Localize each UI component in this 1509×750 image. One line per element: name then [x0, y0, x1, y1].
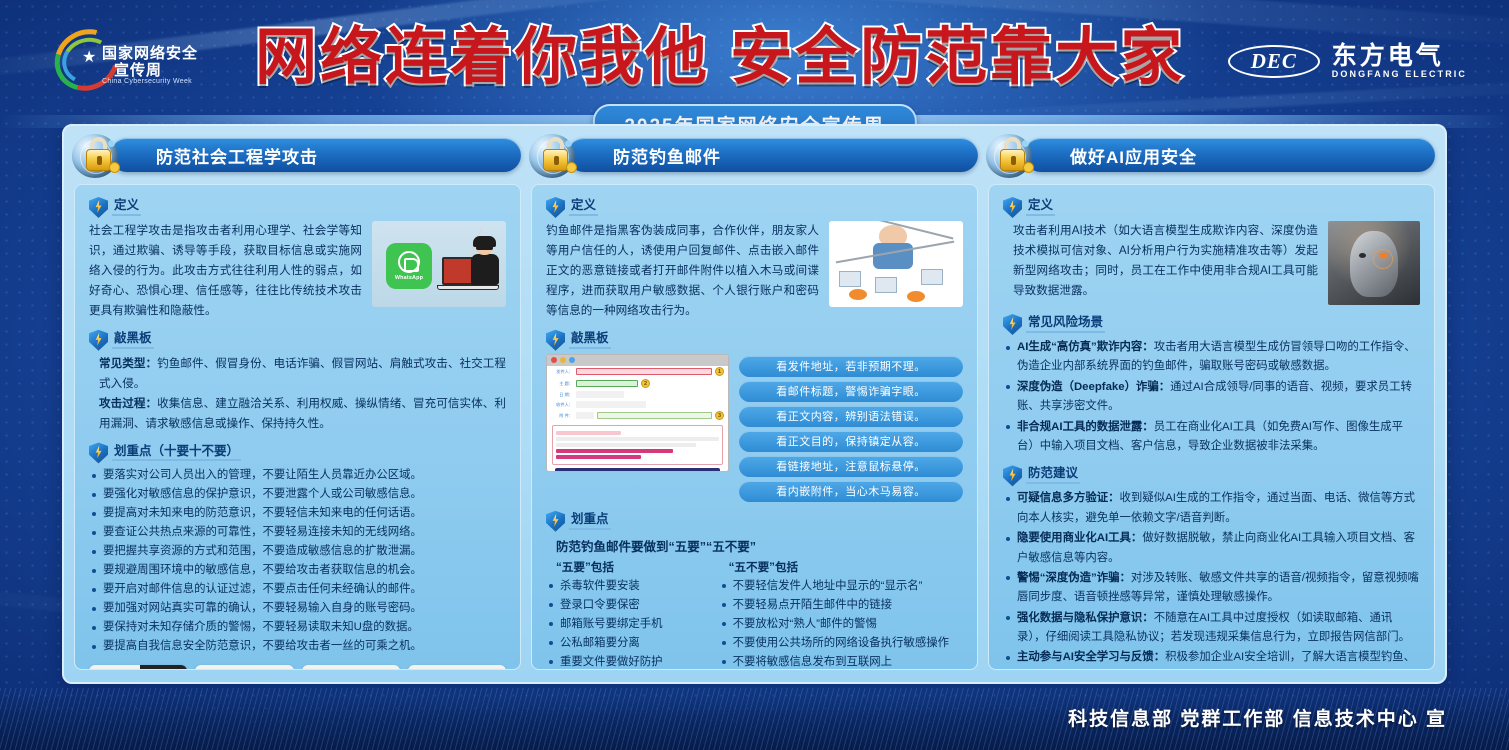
dec-mark: DEC — [1228, 45, 1320, 78]
lock-sparkle-icon — [1022, 140, 1029, 147]
section-blackboard-head: 敲黑板 — [546, 330, 963, 351]
mail-body — [552, 425, 723, 465]
mail-field-row: 附 件： 3 — [547, 410, 728, 422]
lock-sparkle-icon — [108, 140, 115, 147]
section-keypoints: 划重点 防范钓鱼邮件要做到“五要”“五不要” “五要”包括 杀毒软件要安装 登录… — [546, 511, 963, 670]
whatsapp-icon: WhatsApp — [386, 243, 432, 289]
risk-lead: AI生成“高仿真”欺诈内容： — [1017, 341, 1154, 353]
list-item: 要强化对敏感信息的保护意识，不要泄露个人或公司敏感信息。 — [89, 485, 506, 503]
phishing-illustration: WhatsApp — [372, 221, 506, 307]
blackboard-types-lead: 常见类型： — [99, 357, 157, 370]
risk-lead: 深度伪造（Deepfake）诈骗： — [1017, 381, 1170, 393]
definition-text: 钓鱼邮件是指黑客伪装成同事，合作伙伴，朋友家人等用户信任的人，诱使用户回复邮件、… — [546, 221, 819, 321]
list-item: 可疑信息多方验证：收到疑似AI生成的工作指令，通过当面、电话、微信等方式向本人核… — [1003, 489, 1420, 528]
section-definition-label: 定义 — [1026, 199, 1055, 216]
section-definition-label: 定义 — [112, 199, 141, 216]
shield-icon — [89, 442, 108, 463]
mail-field-key: 附 件： — [551, 413, 573, 419]
ai-robot-image — [1328, 221, 1420, 305]
mail-body-link[interactable] — [556, 449, 673, 453]
list-item: 深度伪造（Deepfake）诈骗：通过AI合成领导/同事的语音、视频，要求员工转… — [1003, 378, 1420, 417]
list-item: 警惕“深度伪造”诈骗：对涉及转账、敏感文件共享的语音/视频指令，留意视频嘴唇同步… — [1003, 569, 1420, 608]
list-item: 邮箱账号要绑定手机 — [546, 615, 715, 633]
risk-lead: 非合规AI工具的数据泄露： — [1017, 421, 1154, 433]
page-title: 网络连着你我他 安全防范靠大家 — [255, 22, 1025, 94]
list-item: 登录口令要保密 — [546, 596, 715, 614]
definition-row: 钓鱼邮件是指黑客伪装成同事，合作伙伴，朋友家人等用户信任的人，诱使用户回复邮件、… — [546, 221, 963, 321]
definition-text: 攻击者利用AI技术（如大语言模型生成欺诈内容、深度伪造技术模拟可信对象、AI分析… — [1003, 221, 1318, 301]
column-3-body: 定义 攻击者利用AI技术（如大语言模型生成欺诈内容、深度伪造技术模拟可信对象、A… — [988, 184, 1435, 670]
shield-icon — [1003, 314, 1022, 335]
section-keypoints-label: 划重点 — [569, 513, 611, 530]
section-advice-label: 防范建议 — [1026, 467, 1080, 484]
blackboard-process-lead: 攻击过程： — [99, 397, 157, 410]
section-blackboard-label: 敲黑板 — [569, 332, 611, 349]
definition-row: 社会工程学攻击是指攻击者利用心理学、社会学等知识，通过欺骗、诱导等手段，获取目标… — [89, 221, 506, 321]
shield-icon — [89, 197, 108, 218]
mail-body-line — [556, 437, 719, 441]
hacker-figure — [470, 239, 500, 285]
section-keypoints: 划重点（十要十不要） 要落实对公司人员出入的管理，不要让陌生人员靠近办公区域。 … — [89, 442, 506, 655]
definition-row: 攻击者利用AI技术（如大语言模型生成欺诈内容、深度伪造技术模拟可信对象、AI分析… — [1003, 221, 1420, 305]
advice-lead: 警惕“深度伪造”诈骗： — [1017, 572, 1131, 584]
list-item: 强化数据与隐私保护意识：不随意在AI工具中过度授权（如读取邮箱、通讯录），仔细阅… — [1003, 609, 1420, 648]
mail-field-row: 收件人： — [547, 400, 728, 410]
star-icon: ★ — [82, 50, 96, 66]
minimize-icon[interactable] — [560, 357, 566, 363]
envelope-icon — [921, 269, 943, 285]
column-ai-security: 做好AI应用安全 定义 攻击者利用AI技术（如大 — [988, 138, 1435, 670]
mail-field-row: 发件人： 1 — [547, 366, 728, 378]
do-list: 杀毒软件要安装 登录口令要保密 邮箱账号要绑定手机 公私邮箱要分离 重要文件要做… — [546, 577, 715, 670]
callout-badge: 3 — [715, 411, 724, 420]
shield-icon — [546, 330, 565, 351]
column-1-illustrations: App ••• — [89, 665, 506, 670]
risks-list: AI生成“高仿真”欺诈内容：攻击者用大语言模型生成仿冒领导口吻的工作指令、伪造企… — [1003, 338, 1420, 456]
fishing-net-illustration — [829, 221, 963, 307]
list-item: 非合规AI工具的数据泄露：员工在商业化AI工具（如免费AI写作、图像生成平台）中… — [1003, 418, 1420, 457]
mail-body-line — [556, 431, 621, 435]
lock-dot-icon — [566, 162, 577, 173]
list-item: 要落实对公司人员出入的管理，不要让陌生人员靠近办公区域。 — [89, 466, 506, 484]
section-blackboard: 敲黑板 常见类型：钓鱼邮件、假冒身份、电话诈骗、假冒网站、肩触式攻击、社交工程式… — [89, 330, 506, 434]
list-item: 要开启对邮件信息的认证过滤，不要点击任何未经确认的邮件。 — [89, 580, 506, 598]
keypoints-title: 防范钓鱼邮件要做到“五要”“五不要” — [556, 536, 963, 555]
section-blackboard-label: 敲黑板 — [112, 332, 154, 349]
list-item: 要把握共享资源的方式和范围，不要造成敏感信息的扩散泄漏。 — [89, 542, 506, 560]
section-keypoints-head: 划重点 — [546, 511, 963, 532]
do-head: “五要”包括 — [556, 559, 715, 575]
column-3-title-bar: 做好AI应用安全 — [1024, 138, 1435, 172]
footer-text: 科技信息部 党群工作部 信息技术中心 宣 — [1068, 704, 1447, 731]
dont-list: 不要轻信发件人地址中显示的“显示名” 不要轻易点开陌生邮件中的链接 不要放松对“… — [719, 577, 963, 670]
section-definition-label: 定义 — [569, 199, 598, 216]
list-item: 要提高自我信息安全防范意识，不要给攻击者一丝的可乘之机。 — [89, 637, 506, 655]
lock-globe-icon — [72, 132, 126, 184]
dec-name-en: DONGFANG ELECTRIC — [1332, 69, 1467, 79]
column-3-header: 做好AI应用安全 — [1002, 138, 1435, 178]
whatsapp-phone-glyph — [398, 251, 420, 273]
section-advice: 防范建议 可疑信息多方验证：收到疑似AI生成的工作指令，通过当面、电话、微信等方… — [1003, 465, 1420, 670]
china-cybersecurity-week-logo: ★ 国家网络安全 宣传周 China Cybersecurity Week — [52, 26, 192, 92]
list-item: AI生成“高仿真”欺诈内容：攻击者用大语言模型生成仿冒领导口吻的工作指令、伪造企… — [1003, 338, 1420, 377]
list-item: 不要轻信发件人地址中显示的“显示名” — [719, 577, 963, 595]
keypoints-list: 要落实对公司人员出入的管理，不要让陌生人员靠近办公区域。 要强化对敏感信息的保护… — [89, 466, 506, 655]
logo-english: China Cybersecurity Week — [102, 78, 192, 85]
phishing-email-screenshot: 发件人： 1 主 题： 2 日 期： — [546, 354, 729, 472]
section-definition-head: 定义 — [546, 197, 963, 218]
list-item: 主动参与AI安全学习与反馈：积极参加企业AI安全培训，了解大语言模型钓鱼、AI恶… — [1003, 648, 1420, 670]
lock-globe-icon — [529, 132, 583, 184]
list-item: 要查证公共热点来源的可靠性，不要轻易连接未知的无线网络。 — [89, 523, 506, 541]
mail-field-key: 主 题： — [551, 381, 573, 387]
advice-list: 可疑信息多方验证：收到疑似AI生成的工作指令，通过当面、电话、微信等方式向本人核… — [1003, 489, 1420, 670]
maximize-icon[interactable] — [569, 357, 575, 363]
tip-pill: 看内嵌附件，当心木马易容。 — [739, 481, 963, 502]
section-risks-head: 常见风险场景 — [1003, 314, 1420, 335]
fish-icon — [907, 291, 925, 302]
mail-example-row: 发件人： 1 主 题： 2 日 期： — [546, 354, 963, 502]
list-item: 不要轻易点开陌生邮件中的链接 — [719, 596, 963, 614]
shield-icon — [546, 511, 565, 532]
close-icon[interactable] — [551, 357, 557, 363]
list-item: 隐要使用商业化AI工具：做好数据脱敏，禁止向商业化AI工具输入项目文档、客户敏感… — [1003, 529, 1420, 568]
lock-dot-icon — [1023, 162, 1034, 173]
mail-field-value — [576, 412, 594, 419]
mail-field-key: 收件人： — [551, 402, 573, 408]
mail-field-value — [576, 380, 638, 387]
logo-line2: 宣传周 — [114, 59, 162, 80]
callout-badge: 2 — [641, 379, 650, 388]
poster-footer: 科技信息部 党群工作部 信息技术中心 宣 — [0, 688, 1509, 750]
tip-pill: 看正文内容，辨别语法错误。 — [739, 406, 963, 427]
fish-icon — [849, 289, 867, 300]
column-2-body: 定义 钓鱼邮件是指黑客伪装成同事，合作伙伴，朋友家人等用户信任的人，诱使用户回复… — [531, 184, 978, 670]
mail-field-value — [576, 401, 646, 408]
column-2-header: 防范钓鱼邮件 — [545, 138, 978, 178]
robot-eye-right — [1380, 253, 1387, 258]
dec-name-cn: 东方电气 — [1332, 43, 1467, 69]
column-1-header: 防范社会工程学攻击 — [88, 138, 521, 178]
lock-body-icon — [86, 149, 111, 171]
section-definition: 定义 社会工程学攻击是指攻击者利用心理学、社会学等知识，通过欺骗、诱导等手段，获… — [89, 197, 506, 321]
section-risks-label: 常见风险场景 — [1026, 316, 1105, 333]
do-column: “五要”包括 杀毒软件要安装 登录口令要保密 邮箱账号要绑定手机 公私邮箱要分离… — [546, 559, 715, 670]
column-2-title-bar: 防范钓鱼邮件 — [567, 138, 978, 172]
blackboard-types-text: 钓鱼邮件、假冒身份、电话诈骗、假冒网站、肩触式攻击、社交工程式入侵。 — [99, 357, 506, 390]
mail-field-row: 日 期： — [547, 390, 728, 400]
mail-field-key: 日 期： — [551, 392, 573, 398]
dongfang-electric-logo: DEC 东方电气 DONGFANG ELECTRIC — [1228, 40, 1467, 82]
blackboard-types: 常见类型：钓鱼邮件、假冒身份、电话诈骗、假冒网站、肩触式攻击、社交工程式入侵。 — [89, 354, 506, 394]
list-item: 不要放松对“熟人”邮件的警惕 — [719, 615, 963, 633]
list-item: 公私邮箱要分离 — [546, 634, 715, 652]
section-blackboard: 敲黑板 发件人： 1 — [546, 330, 963, 502]
column-phishing-email: 防范钓鱼邮件 定义 钓鱼邮件是指黑客伪装成同事， — [531, 138, 978, 670]
column-3-title: 做好AI应用安全 — [1024, 143, 1197, 168]
tip-pill: 看邮件标题，警惕诈骗字眼。 — [739, 381, 963, 402]
lock-sparkle-icon — [565, 140, 572, 147]
mail-field-value — [576, 391, 624, 398]
advice-lead: 可疑信息多方验证： — [1017, 492, 1120, 504]
column-2-title: 防范钓鱼邮件 — [567, 143, 721, 168]
section-advice-head: 防范建议 — [1003, 465, 1420, 486]
section-definition: 定义 攻击者利用AI技术（如大语言模型生成欺诈内容、深度伪造技术模拟可信对象、A… — [1003, 197, 1420, 305]
lock-dot-icon — [109, 162, 120, 173]
section-definition-head: 定义 — [1003, 197, 1420, 218]
lock-body-icon — [543, 149, 568, 171]
robot-eye-left — [1359, 253, 1366, 258]
poster-root: ★ 国家网络安全 宣传周 China Cybersecurity Week 网络… — [0, 0, 1509, 750]
section-blackboard-head: 敲黑板 — [89, 330, 506, 351]
lock-body-icon — [1000, 149, 1025, 171]
mail-check-tips: 看发件地址，若非预期不理。 看邮件标题，警惕诈骗字眼。 看正文内容，辨别语法错误… — [739, 354, 963, 502]
callout-badge: 1 — [715, 367, 724, 376]
list-item: 不要将敏感信息发布到互联网上 — [719, 653, 963, 670]
malicious-url[interactable]: http://www.DengYiShangGou.com/ — [555, 468, 720, 472]
advice-lead: 隐要使用商业化AI工具： — [1017, 532, 1142, 544]
list-item: 要保持对未知存储介质的警惕，不要轻易读取未知U盘的数据。 — [89, 618, 506, 636]
shield-icon — [546, 197, 565, 218]
dont-head: “五不要”包括 — [729, 559, 963, 575]
hacker-sunglasses — [476, 246, 493, 250]
mail-body-link[interactable] — [556, 455, 641, 459]
illustration-info-theft — [302, 665, 400, 670]
shield-icon — [1003, 465, 1022, 486]
mail-attachment — [597, 412, 712, 419]
list-item: 杀毒软件要安装 — [546, 577, 715, 595]
list-item: 重要文件要做好防护 — [546, 653, 715, 670]
laptop-base — [437, 285, 499, 290]
do-dont-columns: “五要”包括 杀毒软件要安装 登录口令要保密 邮箱账号要绑定手机 公私邮箱要分离… — [546, 559, 963, 670]
mail-body-line — [556, 443, 696, 447]
shield-icon — [1003, 197, 1022, 218]
section-risk-scenarios: 常见风险场景 AI生成“高仿真”欺诈内容：攻击者用大语言模型生成仿冒领导口吻的工… — [1003, 314, 1420, 456]
column-social-engineering: 防范社会工程学攻击 定义 社会工程学攻击是指攻击 — [74, 138, 521, 670]
shield-icon — [89, 330, 108, 351]
mail-field-value — [576, 368, 712, 375]
whatsapp-label: WhatsApp — [395, 275, 423, 281]
fisher-body — [873, 243, 913, 269]
hacker-body — [471, 254, 499, 285]
definition-text: 社会工程学攻击是指攻击者利用心理学、社会学等知识，通过欺骗、诱导等手段，获取目标… — [89, 221, 362, 321]
illustration-chat-scam: ••• — [408, 665, 506, 670]
tip-pill: 看正文目的，保持镇定从容。 — [739, 431, 963, 452]
advice-lead: 主动参与AI安全学习与反馈： — [1017, 651, 1165, 663]
column-1-title-bar: 防范社会工程学攻击 — [110, 138, 521, 172]
robot-eye-ring — [1373, 249, 1393, 269]
list-item: 要规避周围环境中的敏感信息，不要给攻击者获取信息的机会。 — [89, 561, 506, 579]
column-1-title: 防范社会工程学攻击 — [110, 143, 318, 168]
illustration-malicious-app: App — [195, 665, 293, 670]
section-keypoints-label: 划重点（十要十不要） — [112, 445, 241, 462]
column-1-body: 定义 社会工程学攻击是指攻击者利用心理学、社会学等知识，通过欺骗、诱导等手段，获… — [74, 184, 521, 670]
window-titlebar — [547, 355, 728, 366]
dont-column: “五不要”包括 不要轻信发件人地址中显示的“显示名” 不要轻易点开陌生邮件中的链… — [719, 559, 963, 670]
section-definition-head: 定义 — [89, 197, 506, 218]
lock-globe-icon — [986, 132, 1040, 184]
list-item: 要加强对网站真实可靠的确认，不要轻易输入自身的账号密码。 — [89, 599, 506, 617]
blackboard-process: 攻击过程：收集信息、建立融洽关系、利用权威、操纵情绪、冒充可信实体、利用漏洞、请… — [89, 394, 506, 434]
mail-field-row: 主 题： 2 — [547, 378, 728, 390]
blackboard-process-text: 收集信息、建立融洽关系、利用权威、操纵情绪、冒充可信实体、利用漏洞、请求敏感信息… — [99, 397, 506, 430]
section-keypoints-head: 划重点（十要十不要） — [89, 442, 506, 463]
section-definition: 定义 钓鱼邮件是指黑客伪装成同事，合作伙伴，朋友家人等用户信任的人，诱使用户回复… — [546, 197, 963, 321]
list-item: 要提高对未知来电的防范意识，不要轻信未知来电的任何话语。 — [89, 504, 506, 522]
tip-pill: 看发件地址，若非预期不理。 — [739, 356, 963, 377]
content-panel: 防范社会工程学攻击 定义 社会工程学攻击是指攻击 — [62, 124, 1447, 684]
envelope-icon — [875, 277, 897, 293]
list-item: 不要使用公共场所的网络设备执行敏感操作 — [719, 634, 963, 652]
envelope-icon — [839, 271, 861, 287]
mail-field-key: 发件人： — [551, 369, 573, 375]
illustration-document-theft — [89, 665, 187, 670]
tip-pill: 看链接地址，注意鼠标悬停。 — [739, 456, 963, 477]
poster-header: ★ 国家网络安全 宣传周 China Cybersecurity Week 网络… — [0, 0, 1509, 105]
advice-lead: 强化数据与隐私保护意识： — [1017, 612, 1154, 624]
